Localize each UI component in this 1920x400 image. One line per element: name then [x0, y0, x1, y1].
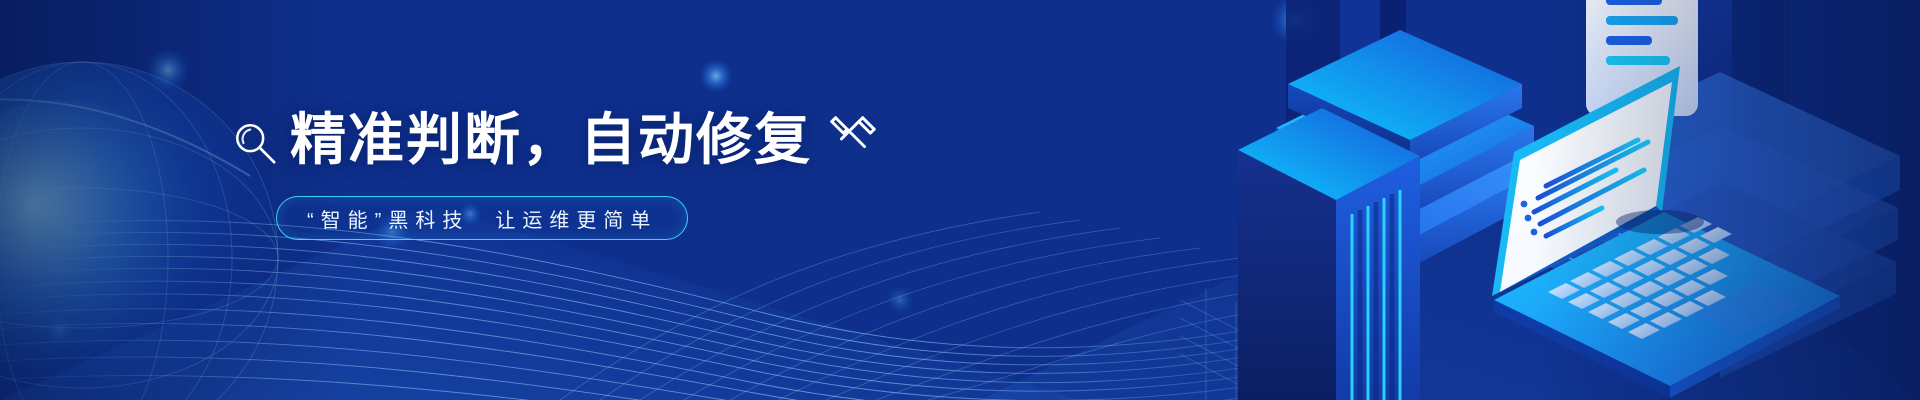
server-tower-building	[1238, 108, 1420, 400]
subtitle-left: “智能”黑科技	[307, 204, 469, 233]
headline-row: 精准判断，自动修复	[232, 104, 872, 176]
hero-copy: 精准判断，自动修复 “智能”黑科技 让运维更简单	[232, 104, 872, 240]
magnifying-glass-icon	[232, 120, 278, 166]
subtitle-right: 让运维更简单	[495, 204, 657, 233]
page-title: 精准判断，自动修复	[290, 110, 812, 170]
subtitle-pill: “智能”黑科技 让运维更简单	[276, 196, 688, 240]
hero-banner: 精准判断，自动修复 “智能”黑科技 让运维更简单	[0, 0, 1920, 400]
wrench-icon	[826, 110, 880, 164]
